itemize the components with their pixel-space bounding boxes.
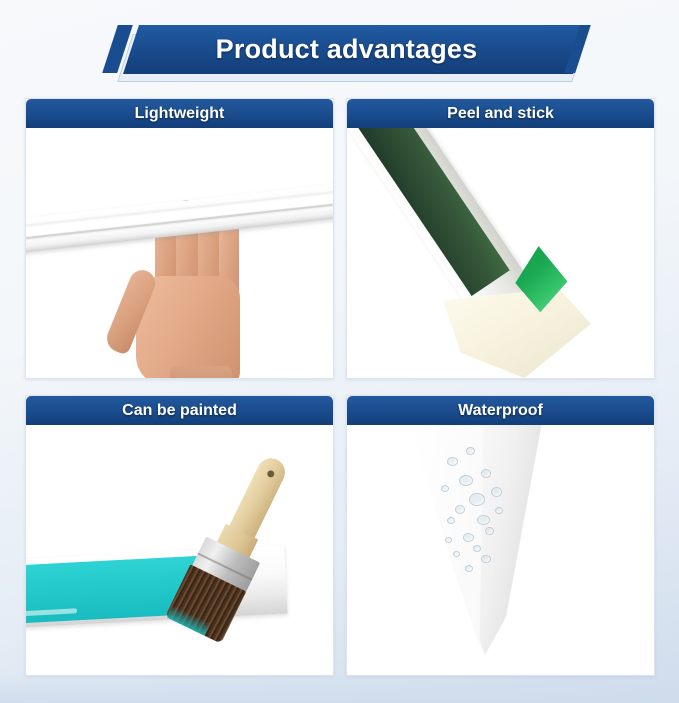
water-drop bbox=[441, 485, 449, 492]
panel-can-be-painted: Can be painted bbox=[25, 395, 334, 676]
panel-image-lightweight bbox=[26, 128, 333, 378]
water-drop bbox=[481, 555, 491, 563]
water-drop bbox=[466, 447, 475, 455]
water-drop bbox=[459, 475, 473, 486]
water-drop bbox=[445, 537, 452, 543]
panel-header-waterproof: Waterproof bbox=[347, 396, 654, 425]
panel-peel-and-stick: Peel and stick bbox=[346, 98, 655, 379]
water-drop bbox=[447, 517, 455, 524]
water-drop bbox=[469, 493, 485, 506]
water-drop bbox=[491, 487, 502, 497]
paint-brush bbox=[160, 442, 313, 643]
water-drop bbox=[485, 527, 494, 535]
water-drop bbox=[455, 505, 465, 514]
bottom-gradient bbox=[0, 673, 679, 703]
water-drop bbox=[453, 551, 460, 557]
panel-header-peel-and-stick: Peel and stick bbox=[347, 99, 654, 128]
water-drop bbox=[463, 533, 474, 542]
water-drop bbox=[477, 515, 490, 525]
advantages-grid: Lightweight Peel and stick bbox=[25, 98, 655, 676]
water-drop bbox=[495, 507, 503, 514]
wrist bbox=[170, 366, 232, 378]
water-drop bbox=[465, 565, 473, 572]
peel-illustration bbox=[347, 128, 654, 378]
panel-header-lightweight: Lightweight bbox=[26, 99, 333, 128]
page-title: Product advantages bbox=[0, 22, 679, 77]
water-drop bbox=[447, 457, 458, 466]
adhesive-surface bbox=[443, 288, 591, 378]
product-advantages-page: Product advantages Lightweight Peel bbox=[0, 0, 679, 703]
panel-lightweight: Lightweight bbox=[25, 98, 334, 379]
panel-header-can-be-painted: Can be painted bbox=[26, 396, 333, 425]
panel-image-can-be-painted bbox=[26, 425, 333, 675]
water-drop bbox=[473, 545, 481, 552]
panel-image-peel-and-stick bbox=[347, 128, 654, 378]
water-drop bbox=[481, 469, 491, 478]
panel-image-waterproof bbox=[347, 425, 654, 675]
panel-waterproof: Waterproof bbox=[346, 395, 655, 676]
